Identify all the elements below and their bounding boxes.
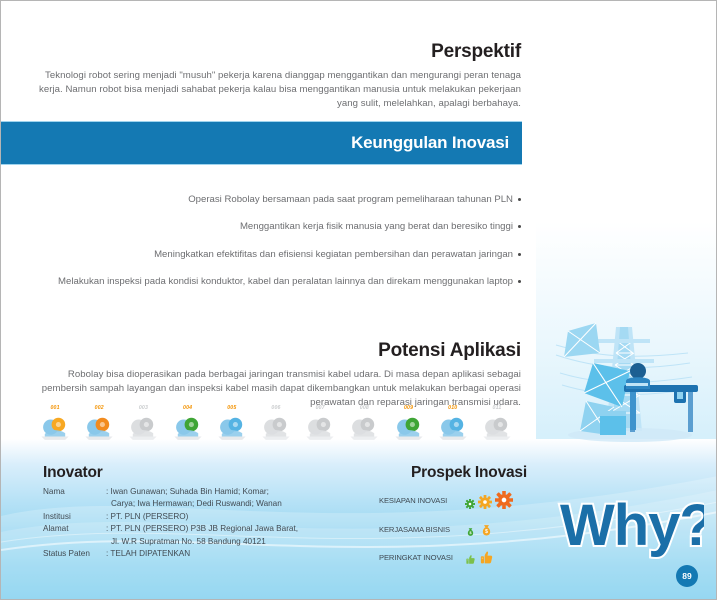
potensi-title: Potensi Aplikasi xyxy=(21,340,521,362)
why-logo: Why? xyxy=(554,491,704,561)
sdg-icon-number: 008 xyxy=(342,405,386,411)
svg-text:Why?: Why? xyxy=(560,493,704,558)
svg-text:$: $ xyxy=(469,531,471,535)
sdg-icon-004: 004 xyxy=(166,405,210,449)
inovator-row-value: : PT. PLN (PERSERO) P3B JB Regional Jawa… xyxy=(106,523,373,548)
prospek-row-rating xyxy=(465,550,494,565)
inovator-row-value-cont: Jl. W.R Supratman No. 58 Bandung 40121 xyxy=(106,536,373,548)
prospek-row-label: KESIAPAN INOVASI xyxy=(379,496,465,505)
keunggulan-band: Keunggulan Inovasi xyxy=(1,121,522,165)
bullet-icon xyxy=(518,253,521,256)
inovator-row-label: Institusi xyxy=(43,511,106,523)
prospek-row-rating xyxy=(465,491,513,509)
sdg-icon-number: 007 xyxy=(298,405,342,411)
list-item-label: Melakukan inspeksi pada kondisi kondukto… xyxy=(58,275,513,288)
prospek-row: KESIAPAN INOVASI xyxy=(379,491,559,509)
thumbs-up-icon xyxy=(465,554,476,565)
list-item: Melakukan inspeksi pada kondisi kondukto… xyxy=(21,275,521,288)
sdg-icon-number: 010 xyxy=(431,405,475,411)
keunggulan-list: Operasi Robolay bersamaan pada saat prog… xyxy=(21,193,521,303)
bullet-icon xyxy=(518,225,521,228)
kite-icon xyxy=(584,363,630,407)
sdg-icon-number: 004 xyxy=(166,405,210,411)
inovator-row-label: Nama xyxy=(43,486,106,511)
list-item-label: Operasi Robolay bersamaan pada saat prog… xyxy=(188,193,513,206)
perspektif-body: Teknologi robot sering menjadi "musuh" p… xyxy=(21,69,521,111)
kite-powerline-worker-illustration xyxy=(538,319,708,459)
list-item-label: Menggantikan kerja fisik manusia yang be… xyxy=(240,220,513,233)
water-drop-icon xyxy=(38,412,72,444)
prospek-row: PERINGKAT INOVASI xyxy=(379,550,559,565)
sdg-icon-number: 009 xyxy=(387,405,431,411)
agriculture-field-icon xyxy=(215,412,249,444)
perspektif-section: Perspektif Teknologi robot sering menjad… xyxy=(21,41,521,111)
inovator-row: Institusi: PT. PLN (PERSERO) xyxy=(43,511,373,523)
bullet-icon xyxy=(518,198,521,201)
money-bag-icon: $ xyxy=(479,522,494,537)
prospek-row: KERJASAMA BISNIS$$ xyxy=(379,522,559,537)
prospek-title: Prospek Inovasi xyxy=(379,464,559,482)
prospek-row-label: KERJASAMA BISNIS xyxy=(379,525,465,534)
inovator-row: Status Paten: TELAH DIPATENKAN xyxy=(43,548,373,560)
sdg-icon-010: 010 xyxy=(431,405,475,449)
sdg-icon-number: 005 xyxy=(210,405,254,411)
potensi-section: Potensi Aplikasi Robolay bisa dioperasik… xyxy=(21,340,521,410)
inovator-section: Inovator Nama: Iwan Gunawan; Suhada Bin … xyxy=(43,464,373,561)
prospek-row-rating: $$ xyxy=(465,522,494,537)
gear-icon xyxy=(495,491,513,509)
prospek-row-label: PERINGKAT INOVASI xyxy=(379,553,465,562)
sdg-icon-008: 008 xyxy=(342,405,386,449)
magnifier-icon xyxy=(259,412,293,444)
inovator-row: Nama: Iwan Gunawan; Suhada Bin Hamid; Ko… xyxy=(43,486,373,511)
keunggulan-title: Keunggulan Inovasi xyxy=(351,133,509,153)
grass-icon xyxy=(347,412,381,444)
gear-icon xyxy=(478,495,492,509)
inovator-row-label: Status Paten xyxy=(43,548,106,560)
inovator-title: Inovator xyxy=(43,464,373,482)
sdg-icon-number: 002 xyxy=(77,405,121,411)
inovator-row: Alamat: PT. PLN (PERSERO) P3B JB Regiona… xyxy=(43,523,373,548)
thumbs-up-icon xyxy=(479,550,494,565)
perspektif-title: Perspektif xyxy=(21,41,521,63)
prospek-section: Prospek Inovasi KESIAPAN INOVASIKERJASAM… xyxy=(379,464,559,578)
sdg-icon-002: 002 xyxy=(77,405,121,449)
sdg-icon-009: 009 xyxy=(387,405,431,449)
gear-icon xyxy=(465,499,475,509)
industry-icon xyxy=(480,412,514,444)
gears-icon xyxy=(82,412,116,444)
sdg-icon-005: 005 xyxy=(210,405,254,449)
kite-icon xyxy=(564,323,600,357)
list-item: Menggantikan kerja fisik manusia yang be… xyxy=(21,220,521,233)
sdg-icon-number: 006 xyxy=(254,405,298,411)
sdg-icon-003: 003 xyxy=(121,405,165,449)
list-item: Operasi Robolay bersamaan pada saat prog… xyxy=(21,193,521,206)
bullet-icon xyxy=(518,280,521,283)
list-item: Meningkatkan efektifitas dan efisiensi k… xyxy=(21,248,521,261)
page-number: 89 xyxy=(676,565,698,587)
sdg-icon-001: 001 xyxy=(33,405,77,449)
landscape-icon xyxy=(303,412,337,444)
sdg-icon-006: 006 xyxy=(254,405,298,449)
wind-turbine-icon xyxy=(126,412,160,444)
sdg-icon-number: 001 xyxy=(33,405,77,411)
target-magnifier-icon xyxy=(392,412,426,444)
list-item-label: Meningkatkan efektifitas dan efisiensi k… xyxy=(154,248,513,261)
inovator-row-value: : TELAH DIPATENKAN xyxy=(106,548,373,560)
sdg-icon-number: 011 xyxy=(475,405,519,411)
inovator-row-value: : Iwan Gunawan; Suhada Bin Hamid; Komar;… xyxy=(106,486,373,511)
inovator-row-label: Alamat xyxy=(43,523,106,548)
sdg-icon-number: 003 xyxy=(121,405,165,411)
energy-sun-icon xyxy=(171,412,205,444)
sdg-icon-007: 007 xyxy=(298,405,342,449)
money-bag-icon: $ xyxy=(465,526,476,537)
sdg-icon-011: 011 xyxy=(475,405,519,449)
inovator-row-value: : PT. PLN (PERSERO) xyxy=(106,511,373,523)
catalog-page: Perspektif Teknologi robot sering menjad… xyxy=(0,0,717,600)
helmet-recycle-icon xyxy=(436,412,470,444)
svg-text:$: $ xyxy=(485,529,488,535)
inovator-row-value-cont: Carya; Iwa Hermawan; Dedi Ruswandi; Wana… xyxy=(106,498,373,510)
potensi-body: Robolay bisa dioperasikan pada berbagai … xyxy=(21,368,521,410)
sdg-icon-strip: 001002003004005006007008009010011 xyxy=(33,405,519,449)
